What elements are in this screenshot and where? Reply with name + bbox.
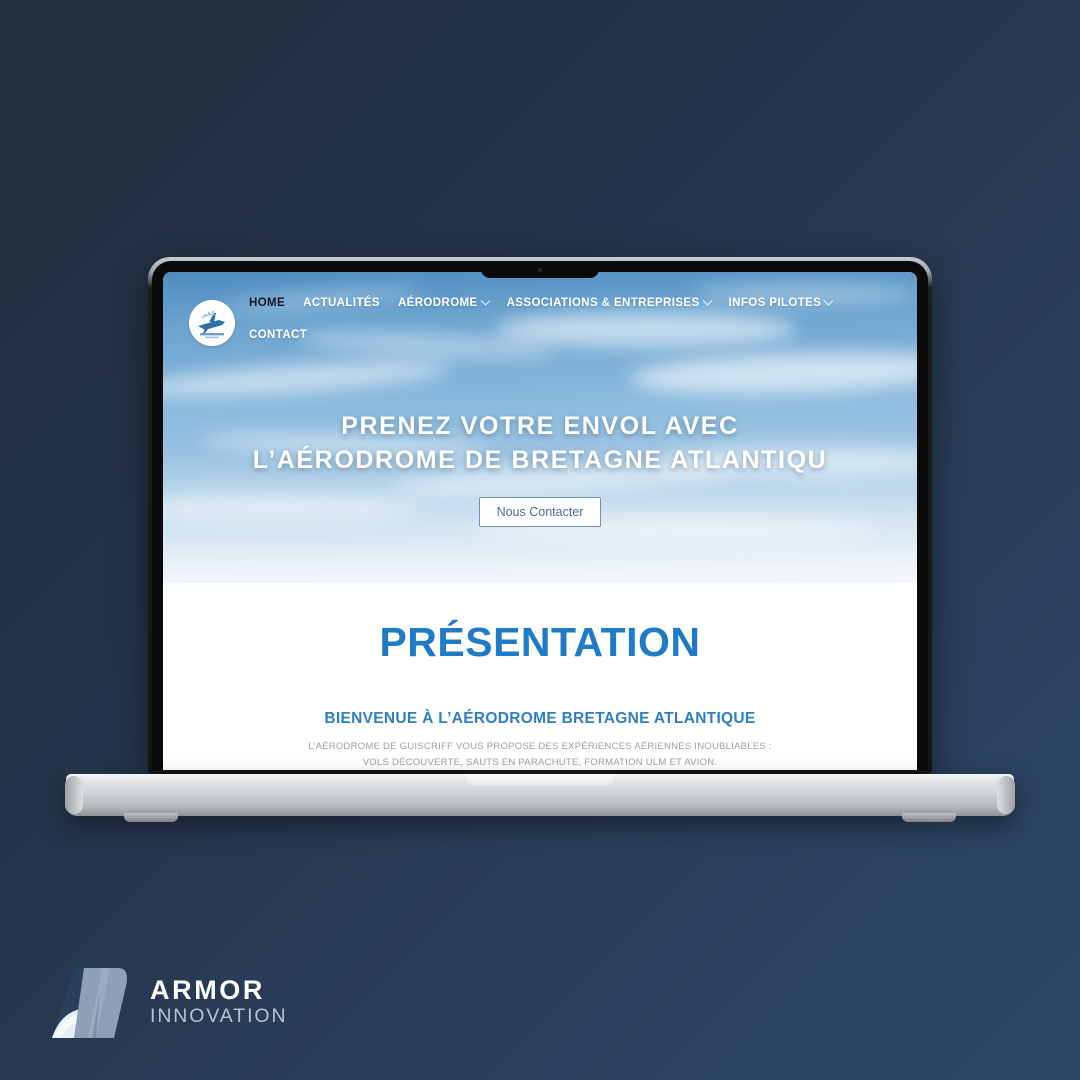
nav-item-label: INFOS PILOTES bbox=[729, 297, 822, 309]
brand-name: ARMOR bbox=[150, 977, 287, 1004]
presentation-title: PRÉSENTATION bbox=[163, 619, 917, 666]
armor-wordmark: ARMOR INNOVATION bbox=[150, 977, 287, 1029]
hero-section: HOME ACTUALITÉS AÉRODROME bbox=[163, 272, 917, 583]
presentation-section: PRÉSENTATION BIENVENUE À L’AÉRODROME BRE… bbox=[163, 583, 917, 770]
hero-headline-line2: L’AÉRODROME DE BRETAGNE ATLANTIQU bbox=[163, 443, 917, 478]
hero-headline-line1: PRENEZ VOTRE ENVOL AVEC bbox=[163, 409, 917, 444]
site-nav: HOME ACTUALITÉS AÉRODROME bbox=[249, 288, 891, 341]
laptop-bezel: HOME ACTUALITÉS AÉRODROME bbox=[152, 261, 928, 770]
presentation-body-line2: VOLS DÉCOUVERTE, SAUTS EN PARACHUTE, FOR… bbox=[163, 755, 917, 770]
laptop-lid: HOME ACTUALITÉS AÉRODROME bbox=[148, 257, 932, 774]
camera-notch-icon bbox=[481, 261, 599, 278]
nav-item-label: ACTUALITÉS bbox=[303, 297, 380, 309]
cloud-decoration bbox=[630, 347, 917, 399]
website-viewport: HOME ACTUALITÉS AÉRODROME bbox=[163, 272, 917, 770]
base-edge-left bbox=[65, 776, 83, 814]
site-logo[interactable] bbox=[189, 300, 235, 346]
chevron-down-icon bbox=[480, 295, 490, 305]
presentation-body: L’AÉRODROME DE GUISCRIFF VOUS PROPOSE DE… bbox=[163, 739, 917, 770]
presentation-body-line1: L’AÉRODROME DE GUISCRIFF VOUS PROPOSE DE… bbox=[163, 739, 917, 755]
base-edge-right bbox=[997, 776, 1015, 814]
site-header: HOME ACTUALITÉS AÉRODROME bbox=[163, 272, 917, 346]
nav-row-secondary: CONTACT bbox=[249, 329, 891, 341]
nav-item-aerodrome[interactable]: AÉRODROME bbox=[398, 297, 489, 309]
laptop-mockup: HOME ACTUALITÉS AÉRODROME bbox=[0, 0, 1080, 1080]
nav-item-label: CONTACT bbox=[249, 329, 307, 341]
nav-row-primary: HOME ACTUALITÉS AÉRODROME bbox=[249, 297, 891, 309]
presentation-subtitle: BIENVENUE À L’AÉRODROME BRETAGNE ATLANTI… bbox=[163, 710, 917, 728]
nav-item-associations-entreprises[interactable]: ASSOCIATIONS & ENTREPRISES bbox=[507, 297, 711, 309]
nav-item-home[interactable]: HOME bbox=[249, 297, 285, 309]
nav-item-contact[interactable]: CONTACT bbox=[249, 329, 307, 341]
laptop-screen: HOME ACTUALITÉS AÉRODROME bbox=[163, 272, 917, 770]
chevron-down-icon bbox=[824, 295, 834, 305]
hero-copy: PRENEZ VOTRE ENVOL AVEC L’AÉRODROME DE B… bbox=[163, 409, 917, 527]
contact-cta-button[interactable]: Nous Contacter bbox=[479, 497, 602, 527]
brand-tagline: INNOVATION bbox=[150, 1007, 287, 1027]
nav-item-infos-pilotes[interactable]: INFOS PILOTES bbox=[729, 297, 833, 309]
nav-item-label: ASSOCIATIONS & ENTREPRISES bbox=[507, 297, 700, 309]
laptop-base bbox=[66, 774, 1014, 816]
armor-logo-mark-icon bbox=[48, 962, 134, 1044]
chevron-down-icon bbox=[702, 295, 712, 305]
nav-item-label: HOME bbox=[249, 297, 285, 309]
airplane-icon bbox=[189, 300, 235, 346]
nav-item-actualites[interactable]: ACTUALITÉS bbox=[303, 297, 380, 309]
nav-item-label: AÉRODROME bbox=[398, 297, 478, 309]
cloud-decoration bbox=[163, 354, 450, 404]
armor-innovation-logo: ARMOR INNOVATION bbox=[48, 962, 287, 1044]
laptop-foot-left bbox=[124, 813, 178, 822]
laptop-foot-right bbox=[902, 813, 956, 822]
